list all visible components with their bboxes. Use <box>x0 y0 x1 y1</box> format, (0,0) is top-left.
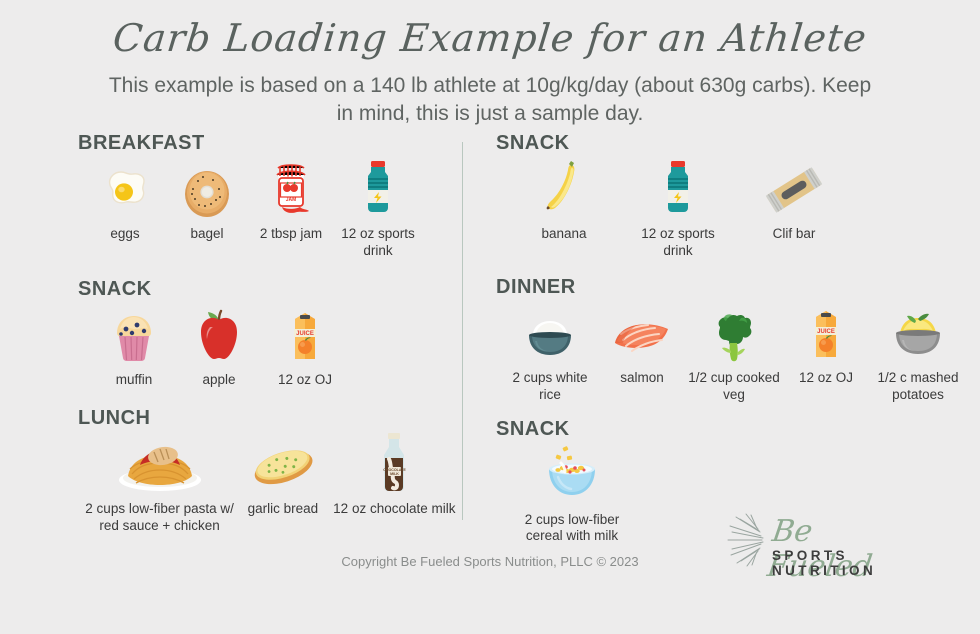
food-label: 12 oz OJ <box>262 372 348 389</box>
food-item-oj: JUICE 12 oz OJ <box>262 303 348 389</box>
food-item-jam: JAM 2 tbsp jam <box>250 157 332 243</box>
cereal-bowl-icon <box>541 443 603 505</box>
food-item-broccoli: 1/2 cup cooked veg <box>688 301 780 404</box>
food-label: Clif bar <box>744 226 844 243</box>
food-item-oj-2: JUICE 12 oz OJ <box>780 301 872 387</box>
food-label: 12 oz OJ <box>780 370 872 387</box>
header: Carb Loading Example for an Athlete This… <box>0 18 980 128</box>
items-snack-1: muffin apple <box>78 303 458 389</box>
items-breakfast: eggs <box>78 157 458 260</box>
section-lunch: LUNCH <box>78 407 458 535</box>
food-label: 2 tbsp jam <box>250 226 332 243</box>
apple-icon <box>193 303 245 365</box>
food-item-sports-drink-2: 12 oz sports drink <box>626 157 730 260</box>
salmon-fillet-icon <box>609 301 675 363</box>
food-item-clif-bar: Clif bar <box>744 157 844 243</box>
items-snack-2: banana <box>496 157 966 260</box>
section-heading-breakfast: BREAKFAST <box>78 132 458 155</box>
food-label: 2 cups white rice <box>504 370 596 404</box>
rice-bowl-icon <box>521 301 579 363</box>
fried-egg-icon <box>98 157 152 219</box>
food-item-banana: banana <box>516 157 612 243</box>
section-heading-dinner: DINNER <box>496 276 966 299</box>
infographic-page: Carb Loading Example for an Athlete This… <box>0 0 980 634</box>
logo-subtitle-text: SPORTS NUTRITION <box>772 548 922 578</box>
food-label: 1/2 c mashed potatoes <box>872 370 964 404</box>
banana-icon <box>539 157 589 219</box>
food-label: garlic bread <box>235 501 330 518</box>
food-item-muffin: muffin <box>92 303 176 389</box>
juice-carton-icon: JUICE <box>285 303 325 365</box>
svg-text:JAM: JAM <box>286 197 297 203</box>
food-label: bagel <box>164 226 250 243</box>
food-label: 12 oz sports drink <box>626 226 730 260</box>
food-item-mashed-potatoes: 1/2 c mashed potatoes <box>872 301 964 404</box>
svg-text:JUICE: JUICE <box>817 329 835 335</box>
energy-bar-icon <box>761 157 827 219</box>
food-item-rice: 2 cups white rice <box>504 301 596 404</box>
food-item-salmon: salmon <box>596 301 688 387</box>
food-label: 12 oz chocolate milk <box>331 501 458 518</box>
food-item-bagel: bagel <box>164 157 250 243</box>
sports-drink-icon <box>358 157 398 219</box>
page-title: Carb Loading Example for an Athlete <box>0 18 980 60</box>
section-heading-lunch: LUNCH <box>78 407 458 430</box>
section-heading-snack-1: SNACK <box>78 278 458 301</box>
broccoli-icon <box>708 301 760 363</box>
food-label: banana <box>516 226 612 243</box>
section-heading-snack-3: SNACK <box>496 418 966 441</box>
right-column: SNACK banana <box>496 132 966 549</box>
food-item-pasta: 2 cups low-fiber pasta w/ red sauce + ch… <box>84 432 235 535</box>
sports-drink-icon <box>658 157 698 219</box>
section-dinner: DINNER 2 cups white rice <box>496 276 966 404</box>
section-snack-2: SNACK banana <box>496 132 966 260</box>
muffin-icon <box>107 303 161 365</box>
bagel-icon <box>180 157 234 219</box>
food-label: eggs <box>86 226 164 243</box>
chocolate-milk-icon: CHOCOLATE MILK <box>374 432 414 494</box>
items-lunch: 2 cups low-fiber pasta w/ red sauce + ch… <box>78 432 458 535</box>
food-label: 1/2 cup cooked veg <box>688 370 780 404</box>
food-label: apple <box>176 372 262 389</box>
section-snack-1: SNACK <box>78 278 458 389</box>
brand-logo: Be Fueled SPORTS NUTRITION <box>722 512 922 574</box>
svg-text:JUICE: JUICE <box>296 331 314 337</box>
garlic-bread-icon <box>248 432 318 494</box>
column-divider <box>462 142 463 520</box>
food-label: salmon <box>596 370 688 387</box>
food-item-chocolate-milk: CHOCOLATE MILK 12 oz chocolate milk <box>331 432 458 518</box>
food-label: muffin <box>92 372 176 389</box>
mashed-potatoes-icon <box>888 301 948 363</box>
section-heading-snack-2: SNACK <box>496 132 966 155</box>
food-item-garlic-bread: garlic bread <box>235 432 330 518</box>
jam-jar-icon: JAM <box>266 157 316 219</box>
items-dinner: 2 cups white rice <box>496 301 966 404</box>
food-label: 2 cups low-fiber pasta w/ red sauce + ch… <box>84 501 235 535</box>
food-label: 2 cups low-fiber cereal with milk <box>512 512 632 546</box>
spaghetti-plate-icon <box>112 432 208 494</box>
food-item-apple: apple <box>176 303 262 389</box>
food-label: 12 oz sports drink <box>332 226 424 260</box>
food-item-cereal: 2 cups low-fiber cereal with milk <box>512 443 632 546</box>
food-item-sports-drink: 12 oz sports drink <box>332 157 424 260</box>
svg-text:MILK: MILK <box>390 472 399 476</box>
section-breakfast: BREAKFAST eggs <box>78 132 458 260</box>
page-subtitle: This example is based on a 140 lb athlet… <box>105 72 875 129</box>
food-item-eggs: eggs <box>86 157 164 243</box>
juice-carton-icon: JUICE <box>806 301 846 363</box>
left-column: BREAKFAST eggs <box>78 132 458 538</box>
